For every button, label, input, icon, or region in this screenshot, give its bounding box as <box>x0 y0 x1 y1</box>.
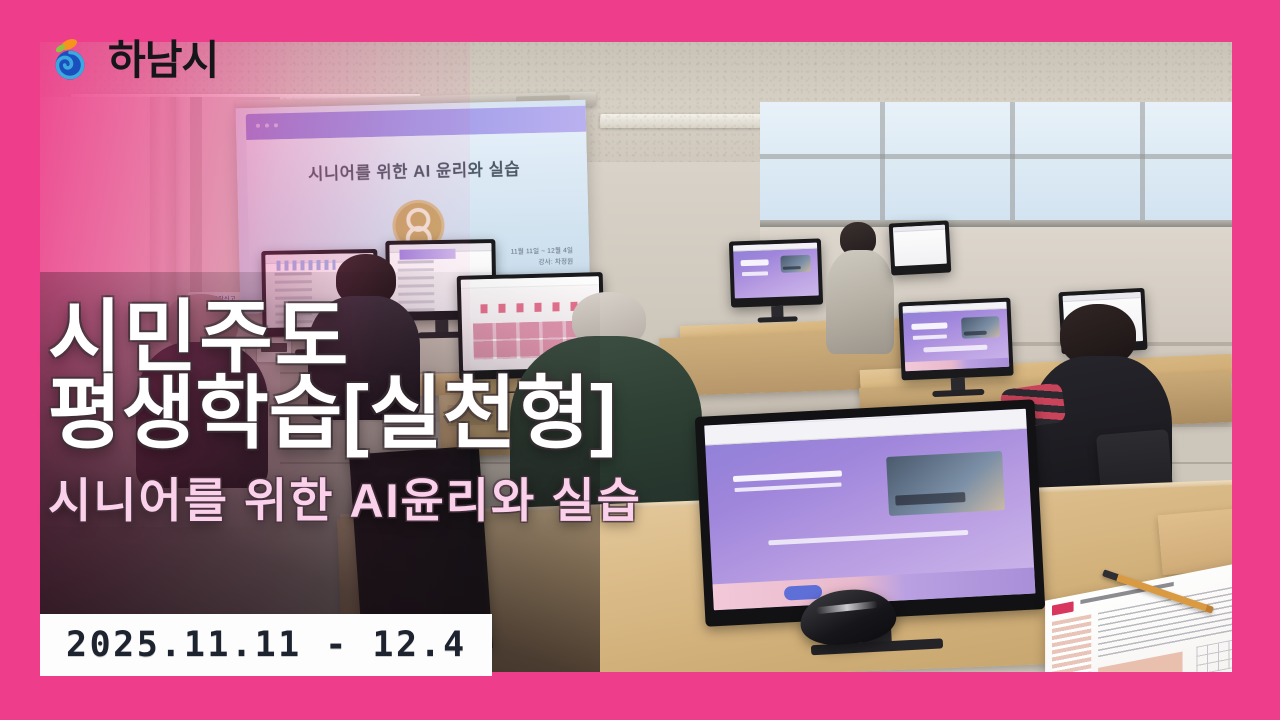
page-heading <box>912 323 948 331</box>
slide-instructor: 강사: 차정원 <box>511 256 574 269</box>
poster-canvas: 고장신고 031-790-6009 시니어를 위한 AI 윤리와 실습 <box>0 0 1280 720</box>
monitor-screen <box>733 243 819 299</box>
window-dot-icon <box>256 124 260 128</box>
page-heading <box>733 470 843 482</box>
date-badge: 2025.11.11 - 12.4 <box>40 614 492 676</box>
monitor <box>889 220 952 275</box>
headline-line-1: 시민주도 <box>48 300 642 376</box>
org-logo-icon <box>1052 601 1074 615</box>
hanam-city-swirl-logo-icon <box>50 38 94 82</box>
headline-line-2: 평생학습[실천형] <box>48 376 642 452</box>
person-body <box>826 250 894 354</box>
slide-title: 시니어를 위한 AI 윤리와 실습 <box>247 154 581 186</box>
video-thumbnail <box>886 451 1005 516</box>
page-subheading <box>768 530 968 545</box>
subtitle: 시니어를 위한 AI윤리와 실습 <box>48 462 642 531</box>
page-heading <box>740 259 769 266</box>
desk <box>1158 505 1232 575</box>
brand-logo: 하남시 <box>50 38 218 82</box>
monitor-screen <box>893 225 947 267</box>
city-name: 하남시 <box>108 40 218 81</box>
slide-meta: 11월 11일 ~ 12월 4일 강사: 차정원 <box>511 245 574 269</box>
video-thumbnail <box>780 254 811 272</box>
frame-bottom-band <box>0 672 1280 720</box>
video-thumbnail <box>961 316 999 338</box>
monitor <box>729 238 823 307</box>
frame-right-band <box>1232 0 1280 720</box>
list-rows <box>274 272 312 276</box>
student <box>826 222 896 352</box>
page-subheading <box>923 344 988 352</box>
monitor <box>898 298 1013 381</box>
window-frame <box>760 154 1232 159</box>
headline-block: 시민주도 평생학습[실천형] 시니어를 위한 AI윤리와 실습 <box>48 300 642 531</box>
window-dot-icon <box>274 123 278 127</box>
monitor-screen <box>704 409 1035 611</box>
window-dot-icon <box>265 123 269 127</box>
monitor-screen <box>903 302 1010 371</box>
frame-left-band <box>0 0 40 720</box>
survey-sidebar <box>1052 614 1091 672</box>
frame-top-band <box>0 0 1280 42</box>
date-range-text: 2025.11.11 - 12.4 <box>40 625 467 665</box>
